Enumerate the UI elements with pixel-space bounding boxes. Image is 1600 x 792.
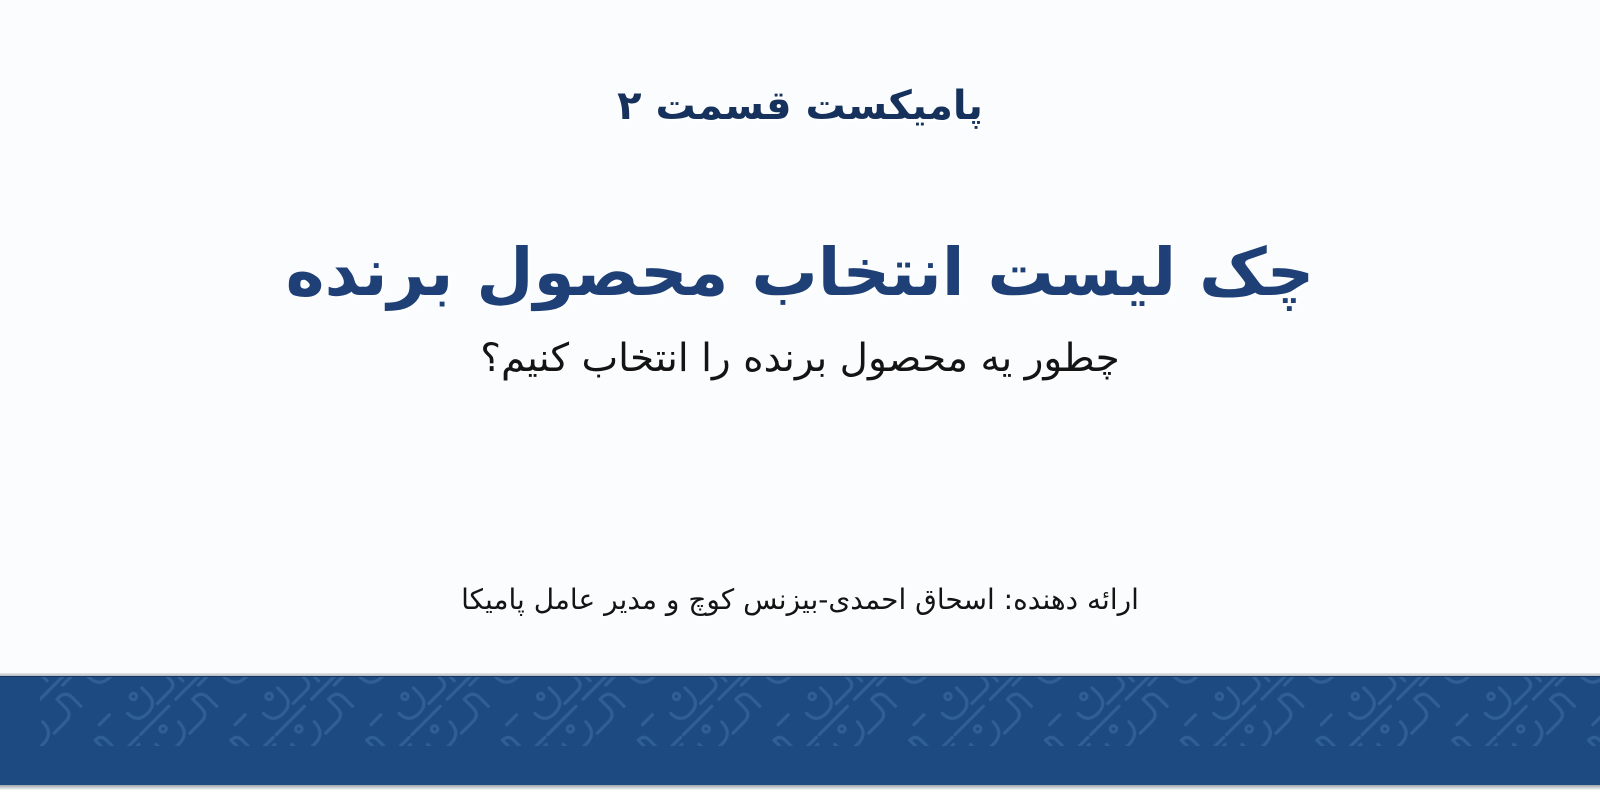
bottom-bar-shadow [0,785,1600,792]
calligraphy-pattern [40,676,1600,746]
slide-subtitle: چطور یه محصول برنده را انتخاب کنیم؟ [0,334,1600,385]
presenter-credit: ارائه دهنده: اسحاق احمدی-بیزنس کوچ و مدی… [0,582,1600,618]
page-title: چک لیست انتخاب محصول برنده [0,232,1600,315]
episode-label: پامیکست قسمت ۲ [0,82,1600,130]
brand-footer-bar [0,676,1600,786]
presentation-slide: پامیکست قسمت ۲ چک لیست انتخاب محصول برند… [0,0,1600,792]
